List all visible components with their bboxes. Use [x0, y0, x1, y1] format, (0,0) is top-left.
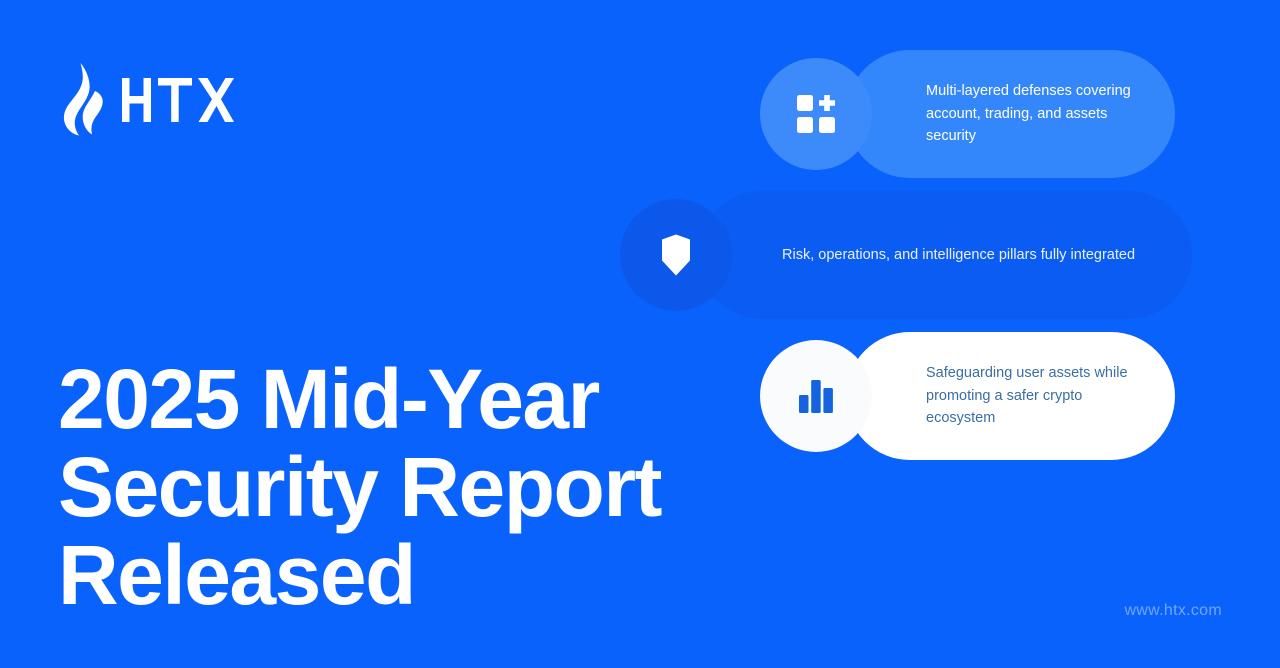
- feature-card-1: Multi-layered defenses covering account,…: [760, 50, 1175, 178]
- feature-pill-3: Safeguarding user assets while promoting…: [846, 332, 1175, 460]
- feature-text-1: Multi-layered defenses covering account,…: [846, 80, 1175, 147]
- promo-banner: 2025 Mid-Year Security Report Released w…: [0, 0, 1280, 668]
- feature-card-2: Risk, operations, and intelligence pilla…: [620, 191, 1192, 319]
- bar-chart-icon: [796, 376, 836, 416]
- feature-list: Multi-layered defenses covering account,…: [600, 0, 1280, 668]
- feature-pill-2: Risk, operations, and intelligence pilla…: [698, 191, 1192, 319]
- htx-wordmark: [122, 78, 234, 122]
- shield-icon: [655, 232, 697, 278]
- shield-icon-circle: [620, 199, 732, 311]
- feature-card-3: Safeguarding user assets while promoting…: [760, 332, 1175, 460]
- htx-logo: [58, 58, 234, 142]
- feature-pill-1: Multi-layered defenses covering account,…: [846, 50, 1175, 178]
- feature-text-2: Risk, operations, and intelligence pilla…: [698, 244, 1175, 266]
- bar-chart-icon-circle: [760, 340, 872, 452]
- flame-icon: [58, 60, 108, 140]
- feature-text-3: Safeguarding user assets while promoting…: [846, 362, 1175, 429]
- grid-plus-icon: [794, 92, 838, 136]
- grid-plus-icon-circle: [760, 58, 872, 170]
